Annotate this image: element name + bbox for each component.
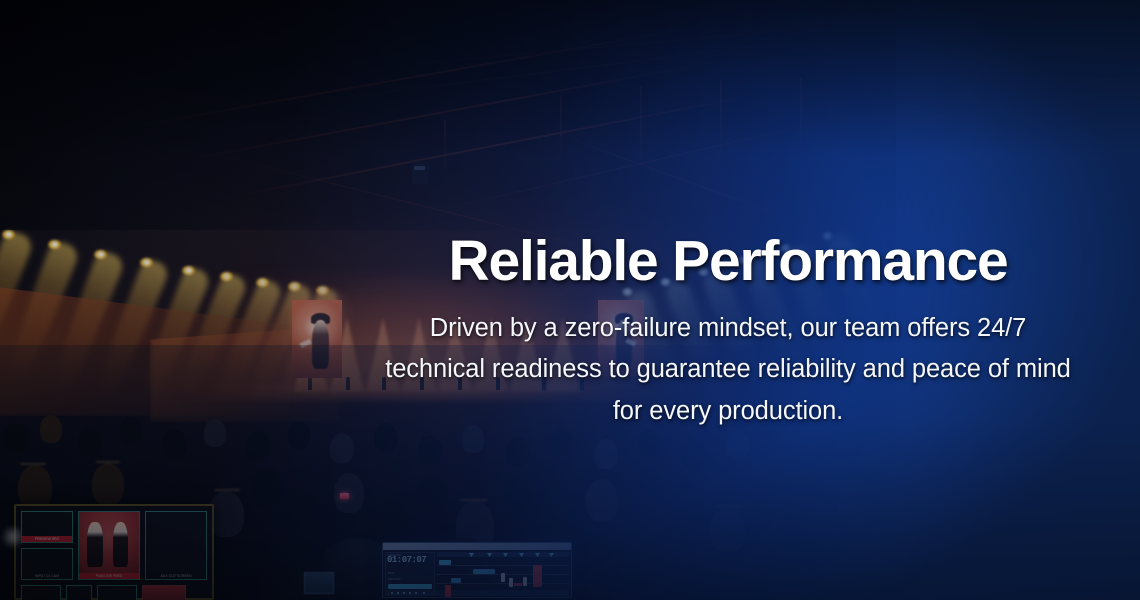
hero-banner: PREVIEW SRC INPUT 02 CAM PGM LIVE FEED xyxy=(0,0,1140,600)
hero-title: Reliable Performance xyxy=(378,232,1078,290)
hero-content: Reliable Performance Driven by a zero-fa… xyxy=(378,232,1078,432)
hero-subtitle: Driven by a zero-failure mindset, our te… xyxy=(378,308,1078,432)
